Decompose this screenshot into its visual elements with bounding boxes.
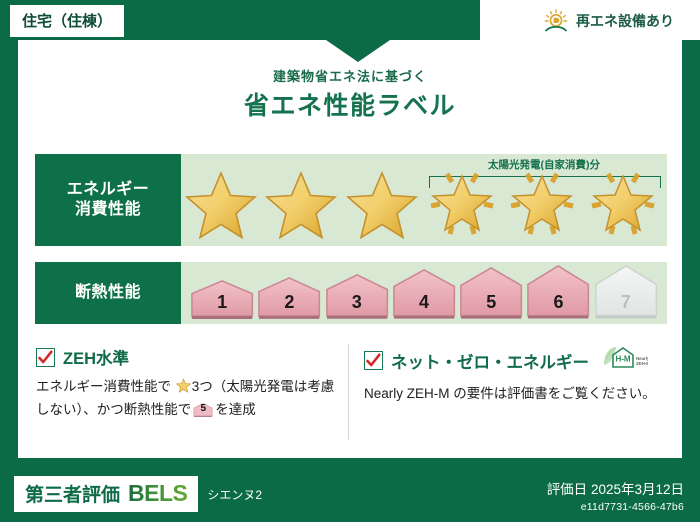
star-filled-2 — [264, 156, 338, 242]
bels-jp-label: 第三者評価 — [25, 480, 120, 507]
renewable-badge-label: 再エネ設備あり — [576, 11, 674, 31]
insulation-row-label: 断熱性能 — [35, 262, 181, 324]
energy-performance-label: 住宅（住棟） 再エネ設備あり 建築物省エネ法に基づく 省エネ性能ラベル エネルギ… — [0, 0, 700, 522]
insulation-performance-row: 断熱性能 1 — [35, 262, 667, 324]
star-filled-3 — [345, 156, 419, 242]
label-title: 省エネ性能ラベル — [0, 86, 700, 122]
grade-house-5: 5 — [458, 265, 524, 319]
zeh-body-text-1: エネルギー消費性能で — [36, 379, 171, 394]
insulation-row-label-line1: 断熱性能 — [75, 283, 141, 303]
star-sparkle-icon — [505, 162, 579, 242]
grade-house-1: 1 — [189, 278, 255, 319]
zeh-m-house-icon: H-M Nearly ZEH-M — [602, 345, 648, 376]
grade-house-6: 6 — [525, 263, 591, 319]
star-sparkle-icon — [586, 162, 660, 242]
nze-info-body: Nearly ZEH-M の要件は評価書をご覧ください。 — [364, 384, 670, 405]
checkmark-icon — [364, 351, 383, 370]
star-icon — [345, 168, 419, 242]
zeh-body-text-2: 3つ（太陽光発電 — [192, 379, 294, 394]
star-sparkle-icon — [425, 162, 499, 242]
grade-number-7: 7 — [593, 292, 659, 313]
grade-number-6: 6 — [525, 292, 591, 313]
grade-number-1: 1 — [189, 292, 255, 313]
grade-house-2: 2 — [256, 275, 322, 319]
footer-bels-group: 第三者評価 BELS シエンヌ2 — [14, 476, 262, 512]
housing-type-tag: 住宅（住棟） — [10, 5, 124, 37]
zeh-info-title: ZEH水準 — [63, 345, 129, 369]
zeh-body-text-4: を達成 — [215, 402, 256, 417]
grade-house-7: 7 — [593, 263, 659, 319]
grade-number-5: 5 — [458, 292, 524, 313]
star-icon — [184, 168, 258, 242]
energy-row-label: エネルギー 消費性能 — [35, 154, 181, 246]
footer-eval-group: 評価日 2025年3月12日 e11d7731-4566-47b6 — [547, 478, 684, 513]
energy-row-body: 太陽光発電(自家消費)分 — [181, 154, 667, 246]
star-solar-2 — [505, 156, 579, 242]
house-icon: 5 — [193, 402, 213, 417]
grade-house-3: 3 — [324, 272, 390, 319]
zeh-body-grade: 5 — [193, 401, 213, 417]
star-icon — [176, 378, 191, 400]
energy-row-label-line1: エネルギー — [67, 180, 150, 200]
checkmark-icon — [36, 348, 55, 367]
zeh-info-body: エネルギー消費性能で 3つ（太陽光発電は考慮しない）、かつ断熱性能で 5 を達成 — [36, 377, 336, 421]
star-icon — [264, 168, 338, 242]
grade-house-4: 4 — [391, 267, 457, 319]
grade-number-4: 4 — [391, 292, 457, 313]
bels-badge: 第三者評価 BELS — [14, 476, 198, 512]
star-rating — [181, 154, 663, 242]
star-solar-3 — [586, 156, 660, 242]
star-solar-1 — [425, 156, 499, 242]
zeh-info-header: ZEH水準 — [36, 345, 336, 369]
grade-number-3: 3 — [324, 292, 390, 313]
svg-text:ZEH-M: ZEH-M — [636, 361, 648, 366]
nze-info-title: ネット・ゼロ・エネルギー — [391, 349, 589, 373]
energy-performance-row: エネルギー 消費性能 太陽光発電(自家消費)分 — [35, 154, 667, 246]
nze-info-header: ネット・ゼロ・エネルギー H-M Nearly ZEH-M — [364, 345, 670, 376]
svg-text:H-M: H-M — [615, 355, 630, 364]
insulation-row-body: 1 2 3 — [181, 262, 667, 324]
label-subtitle: 建築物省エネ法に基づく — [0, 66, 700, 85]
star-filled-1 — [184, 156, 258, 242]
net-zero-energy-info-block: ネット・ゼロ・エネルギー H-M Nearly ZEH-M — [364, 345, 670, 405]
evaluation-date: 評価日 2025年3月12日 — [547, 478, 684, 498]
grade-number-2: 2 — [256, 292, 322, 313]
zeh-info-block: ZEH水準 エネルギー消費性能で 3つ（太陽光発電は考慮しない）、かつ断熱性能で… — [36, 345, 336, 421]
bels-en-label: BELS — [128, 480, 187, 507]
project-name: シエンヌ2 — [207, 486, 262, 503]
renewable-energy-badge: 再エネ設備あり — [535, 5, 688, 37]
info-divider — [348, 344, 349, 440]
sun-renewable-icon — [543, 9, 569, 33]
energy-row-label-line2: 消費性能 — [75, 200, 141, 220]
insulation-grade-scale: 1 2 3 — [189, 263, 659, 319]
evaluation-id: e11d7731-4566-47b6 — [547, 501, 684, 513]
